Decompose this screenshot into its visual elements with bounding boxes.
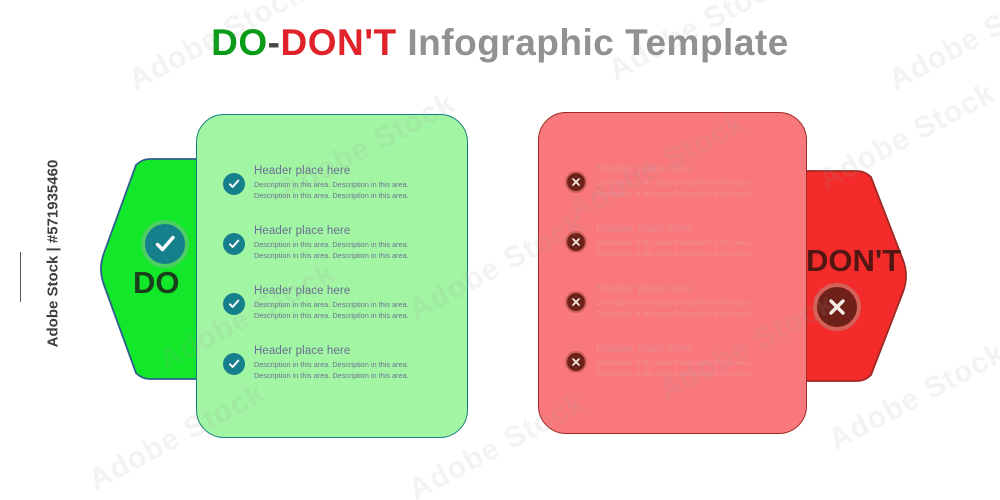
list-item-line2: Description in this area. Description in…: [596, 309, 751, 320]
cross-icon: [565, 291, 587, 313]
list-item[interactable]: Header place here Description in this ar…: [197, 225, 467, 262]
page-title: DO-DON'T Infographic Template: [0, 22, 1000, 64]
cross-icon: [825, 295, 849, 319]
list-item-line1: Description in this area. Description in…: [254, 180, 409, 191]
list-item-line2: Description in this area. Description in…: [254, 191, 409, 202]
check-icon: [223, 173, 245, 195]
do-item-list: Header place here Description in this ar…: [197, 115, 467, 437]
do-badge: [141, 220, 189, 268]
list-item[interactable]: Header place here Description in this ar…: [197, 165, 467, 202]
list-item-line1: Description in this area. Description in…: [254, 300, 409, 311]
do-arrow-label: DO: [133, 265, 180, 301]
cross-icon: [565, 351, 587, 373]
title-dont: DON'T: [281, 22, 397, 63]
check-icon: [152, 231, 178, 257]
dont-item-list: Header place here Description in this ar…: [539, 113, 806, 433]
list-item-text: Header place here Description in this ar…: [254, 225, 417, 262]
list-item-line2: Description in this area. Description in…: [254, 311, 409, 322]
check-icon: [223, 293, 245, 315]
list-item-line1: Description in this area. Description in…: [596, 178, 751, 189]
list-item-line1: Description in this area. Description in…: [596, 358, 751, 369]
list-item-header: Header place here: [254, 285, 409, 297]
do-panel: Header place here Description in this ar…: [196, 114, 468, 438]
list-item-text: Header place here Description in this ar…: [596, 283, 759, 320]
title-dash: -: [268, 22, 281, 63]
list-item-text: Header place here Description in this ar…: [254, 285, 417, 322]
list-item-line2: Description in this area. Description in…: [596, 369, 751, 380]
list-item-header: Header place here: [596, 283, 751, 295]
list-item-header: Header place here: [254, 345, 409, 357]
list-item-text: Header place here Description in this ar…: [254, 165, 417, 202]
list-item-line1: Description in this area. Description in…: [254, 240, 409, 251]
list-item-line1: Description in this area. Description in…: [596, 238, 751, 249]
watermark-rule: [20, 252, 21, 302]
dont-panel: Header place here Description in this ar…: [538, 112, 807, 434]
list-item-text: Header place here Description in this ar…: [596, 223, 759, 260]
cross-icon: [565, 171, 587, 193]
list-item-line2: Description in this area. Description in…: [254, 251, 409, 262]
title-rest: Infographic Template: [407, 22, 788, 63]
list-item-line1: Description in this area. Description in…: [596, 298, 751, 309]
watermark-stock-id: Adobe Stock | #571935460: [45, 139, 62, 369]
list-item[interactable]: Header place here Description in this ar…: [539, 283, 806, 320]
list-item-header: Header place here: [596, 223, 751, 235]
list-item-text: Header place here Description in this ar…: [254, 345, 417, 382]
list-item[interactable]: Header place here Description in this ar…: [539, 223, 806, 260]
list-item-line2: Description in this area. Description in…: [596, 189, 751, 200]
list-item-header: Header place here: [254, 225, 409, 237]
title-do: DO: [211, 22, 268, 63]
list-item-header: Header place here: [596, 343, 751, 355]
list-item-header: Header place here: [596, 163, 751, 175]
list-item-line2: Description in this area. Description in…: [254, 371, 409, 382]
list-item-line2: Description in this area. Description in…: [596, 249, 751, 260]
check-icon: [223, 233, 245, 255]
list-item-text: Header place here Description in this ar…: [596, 163, 759, 200]
dont-arrow-label: DON'T: [806, 243, 901, 279]
dont-badge: [813, 283, 861, 331]
list-item[interactable]: Header place here Description in this ar…: [539, 163, 806, 200]
check-icon: [223, 353, 245, 375]
list-item-header: Header place here: [254, 165, 409, 177]
list-item[interactable]: Header place here Description in this ar…: [539, 343, 806, 380]
list-item[interactable]: Header place here Description in this ar…: [197, 285, 467, 322]
infographic-canvas: Adobe Stock Adobe Stock Adobe Stock Adob…: [0, 0, 1000, 500]
list-item-line1: Description in this area. Description in…: [254, 360, 409, 371]
list-item-text: Header place here Description in this ar…: [596, 343, 759, 380]
list-item[interactable]: Header place here Description in this ar…: [197, 345, 467, 382]
cross-icon: [565, 231, 587, 253]
